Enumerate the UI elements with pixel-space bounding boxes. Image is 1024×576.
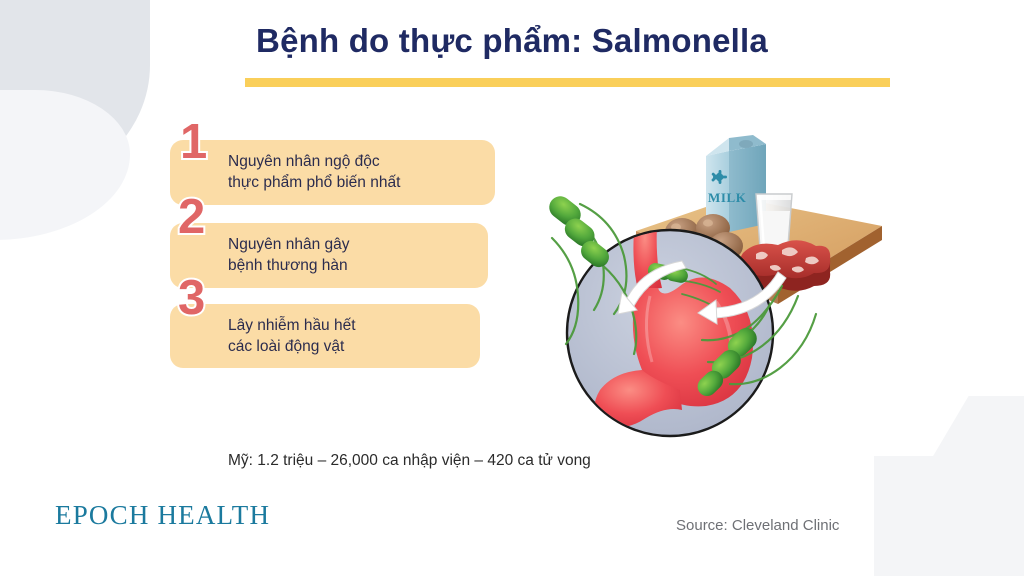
salmonella-illustration: MILK [530, 118, 900, 443]
brand-logo: EPOCH HEALTH [55, 500, 270, 531]
list-item: Nguyên nhân ngộ độc thực phẩm phổ biến n… [170, 140, 510, 205]
bullet-text: Nguyên nhân ngộ độc thực phẩm phổ biến n… [228, 151, 481, 194]
bullet-text: Lây nhiễm hầu hết các loài động vật [228, 315, 466, 358]
bullet-pill: Lây nhiễm hầu hết các loài động vật [170, 304, 480, 369]
page-title: Bệnh do thực phẩm: Salmonella [0, 22, 1024, 60]
bullet-pill: Nguyên nhân gây bệnh thương hàn [170, 223, 488, 288]
slide-canvas: Bệnh do thực phẩm: Salmonella Nguyên nhâ… [0, 0, 1024, 576]
bullet-pill: Nguyên nhân ngộ độc thực phẩm phổ biến n… [170, 140, 495, 205]
bullet-number: 1 [180, 118, 207, 167]
list-item: Nguyên nhân gây bệnh thương hàn 2 [170, 223, 510, 288]
bullet-list: Nguyên nhân ngộ độc thực phẩm phổ biến n… [170, 140, 510, 382]
milk-carton-label: MILK [708, 190, 747, 205]
bullet-number: 3 [178, 274, 205, 323]
source-attribution: Source: Cleveland Clinic [676, 517, 839, 534]
bullet-number: 2 [178, 193, 205, 242]
statistics-text: Mỹ: 1.2 triệu – 26,000 ca nhập viện – 42… [228, 452, 591, 470]
list-item: Lây nhiễm hầu hết các loài động vật 3 [170, 304, 510, 369]
bullet-text: Nguyên nhân gây bệnh thương hàn [228, 234, 474, 277]
title-underline-rule [245, 78, 890, 87]
